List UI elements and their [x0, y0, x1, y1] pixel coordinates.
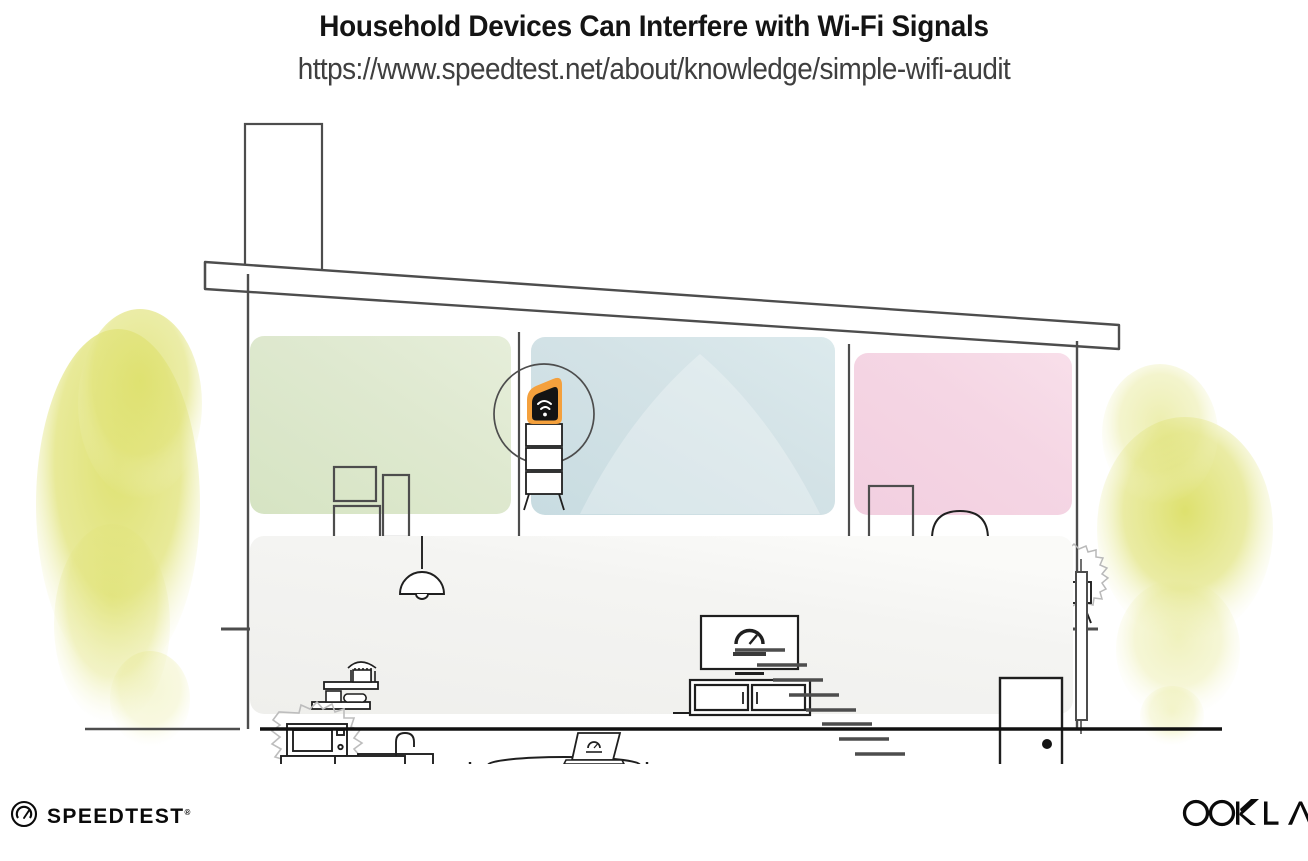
- page-url: https://www.speedtest.net/about/knowledg…: [65, 46, 1242, 87]
- header: Household Devices Can Interfere with Wi-…: [0, 0, 1308, 87]
- laptop-base: [564, 760, 624, 764]
- speedometer-gauge-icon: [10, 800, 38, 833]
- wifi-dot: [543, 413, 547, 417]
- front-door[interactable]: [1000, 678, 1062, 764]
- sink-faucet: [396, 733, 414, 756]
- shelf-upper: [324, 682, 378, 689]
- ookla-chevron-icon: [1236, 799, 1259, 825]
- window: [1076, 559, 1087, 734]
- laptop-speedtest[interactable]: [564, 733, 624, 764]
- slanted-roof: [205, 262, 1119, 349]
- speedtest-logo[interactable]: SPEEDTEST®: [10, 800, 190, 833]
- plant: [348, 662, 376, 682]
- media-console: [690, 680, 810, 715]
- tv-screen-label: [733, 652, 766, 656]
- chimney: [245, 124, 322, 274]
- footer: SPEEDTEST®: [0, 769, 1308, 861]
- house-illustration: [0, 104, 1308, 764]
- ookla-logotype: [1178, 793, 1308, 829]
- tv-stand: [735, 672, 764, 675]
- foliage-right: [1097, 364, 1273, 746]
- speedtest-wordmark: SPEEDTEST®: [47, 805, 190, 829]
- ookla-wordmark: [1178, 793, 1308, 834]
- foliage-left: [36, 309, 202, 747]
- ookla-logo[interactable]: [1178, 793, 1308, 834]
- illustration-page: Household Devices Can Interfere with Wi-…: [0, 0, 1308, 861]
- microwave-dial: [338, 745, 342, 749]
- laptop-screen-label: [586, 751, 602, 753]
- trademark-symbol: ®: [184, 808, 190, 817]
- page-title: Household Devices Can Interfere with Wi-…: [46, 0, 1262, 46]
- kitchen-cabinets: [281, 754, 433, 764]
- door-knob[interactable]: [1042, 739, 1052, 749]
